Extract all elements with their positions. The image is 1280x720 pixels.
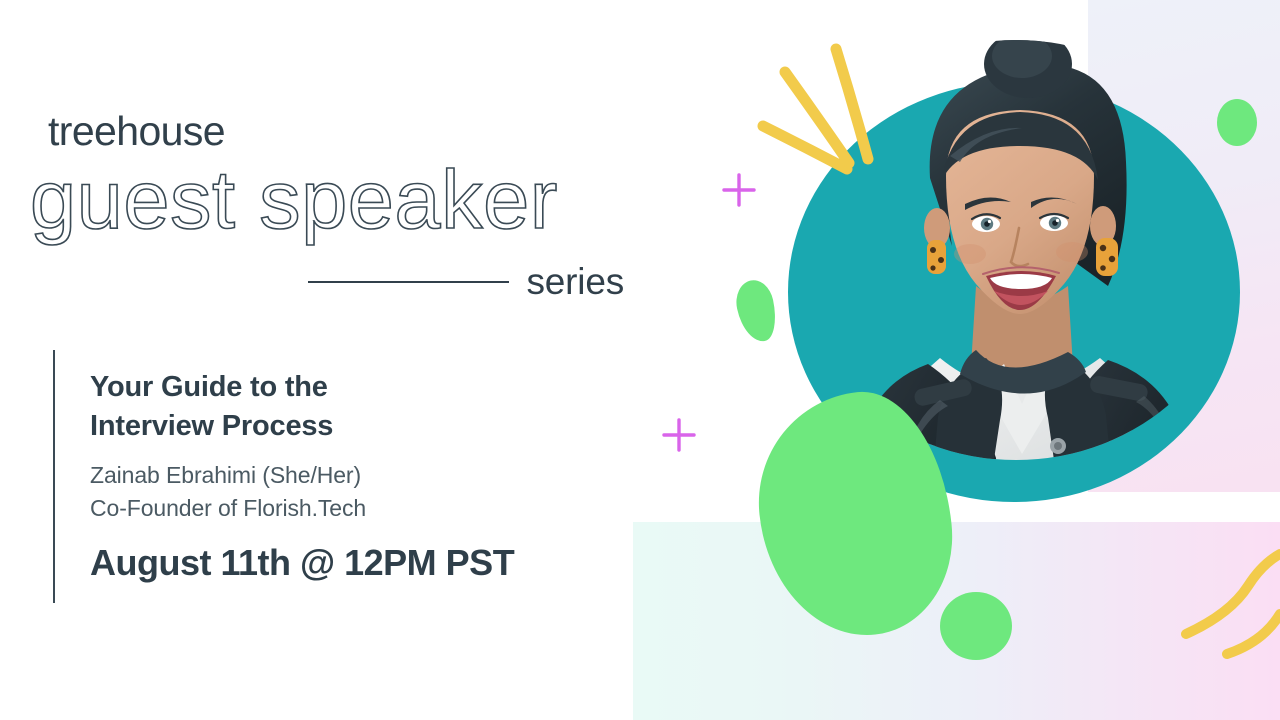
magenta-cross-2-icon bbox=[664, 420, 694, 450]
promo-banner: treehouse guest speaker series Your Guid… bbox=[0, 0, 1280, 720]
headline-guest-speaker: guest speaker bbox=[30, 158, 558, 241]
talk-title-line-2: Interview Process bbox=[90, 407, 610, 446]
talk-title-line-1: Your Guide to the bbox=[90, 368, 610, 407]
event-datetime: August 11th @ 12PM PST bbox=[90, 542, 610, 584]
green-circle-bottom bbox=[940, 592, 1012, 660]
event-info-block: Your Guide to the Interview Process Zain… bbox=[90, 368, 610, 584]
treehouse-wordmark: treehouse bbox=[48, 108, 225, 155]
talk-title: Your Guide to the Interview Process bbox=[90, 368, 610, 445]
speaker-name: Zainab Ebrahimi (She/Her) bbox=[90, 459, 610, 492]
green-blob-small-left bbox=[732, 277, 781, 345]
info-accent-rule bbox=[53, 350, 55, 603]
speaker-role: Co-Founder of Florish.Tech bbox=[90, 492, 610, 525]
magenta-cross-1-icon bbox=[724, 175, 754, 205]
series-label: series bbox=[527, 261, 625, 303]
series-row: series bbox=[308, 258, 624, 306]
series-divider-rule bbox=[308, 281, 509, 283]
